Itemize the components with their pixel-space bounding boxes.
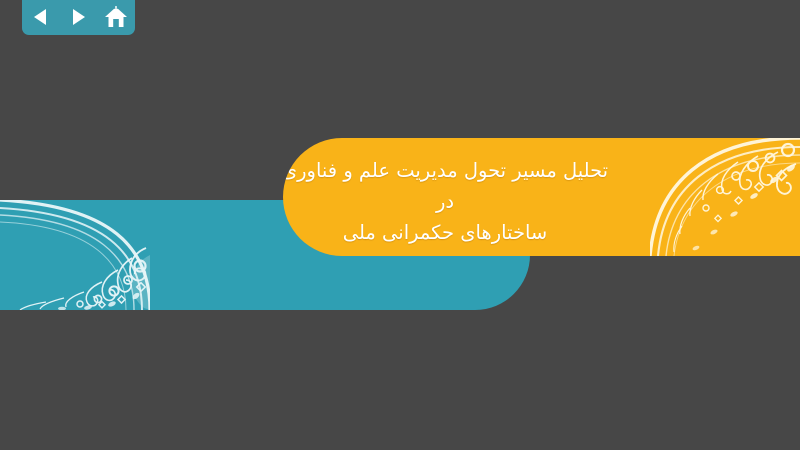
arabesque-corner-ornament-teal	[0, 200, 150, 310]
slide-title-line-1: تحلیل مسیر تحول مدیریت علم و فناوری در	[283, 159, 608, 213]
navigation-toolbar	[22, 0, 135, 35]
orange-title-banner: تحلیل مسیر تحول مدیریت علم و فناوری درسا…	[283, 138, 800, 256]
back-icon	[30, 6, 52, 28]
slide-title-line-2: ساختارهای حکمرانی ملی	[343, 221, 548, 244]
forward-icon	[67, 6, 89, 28]
home-button[interactable]	[101, 4, 131, 30]
presentation-slide: تحلیل مسیر تحول مدیریت علم و فناوری درسا…	[0, 0, 800, 450]
home-icon	[104, 6, 128, 29]
forward-button[interactable]	[63, 4, 93, 30]
arabesque-corner-ornament-orange	[650, 138, 800, 256]
back-button[interactable]	[26, 4, 56, 30]
slide-title: تحلیل مسیر تحول مدیریت علم و فناوری درسا…	[283, 155, 610, 248]
